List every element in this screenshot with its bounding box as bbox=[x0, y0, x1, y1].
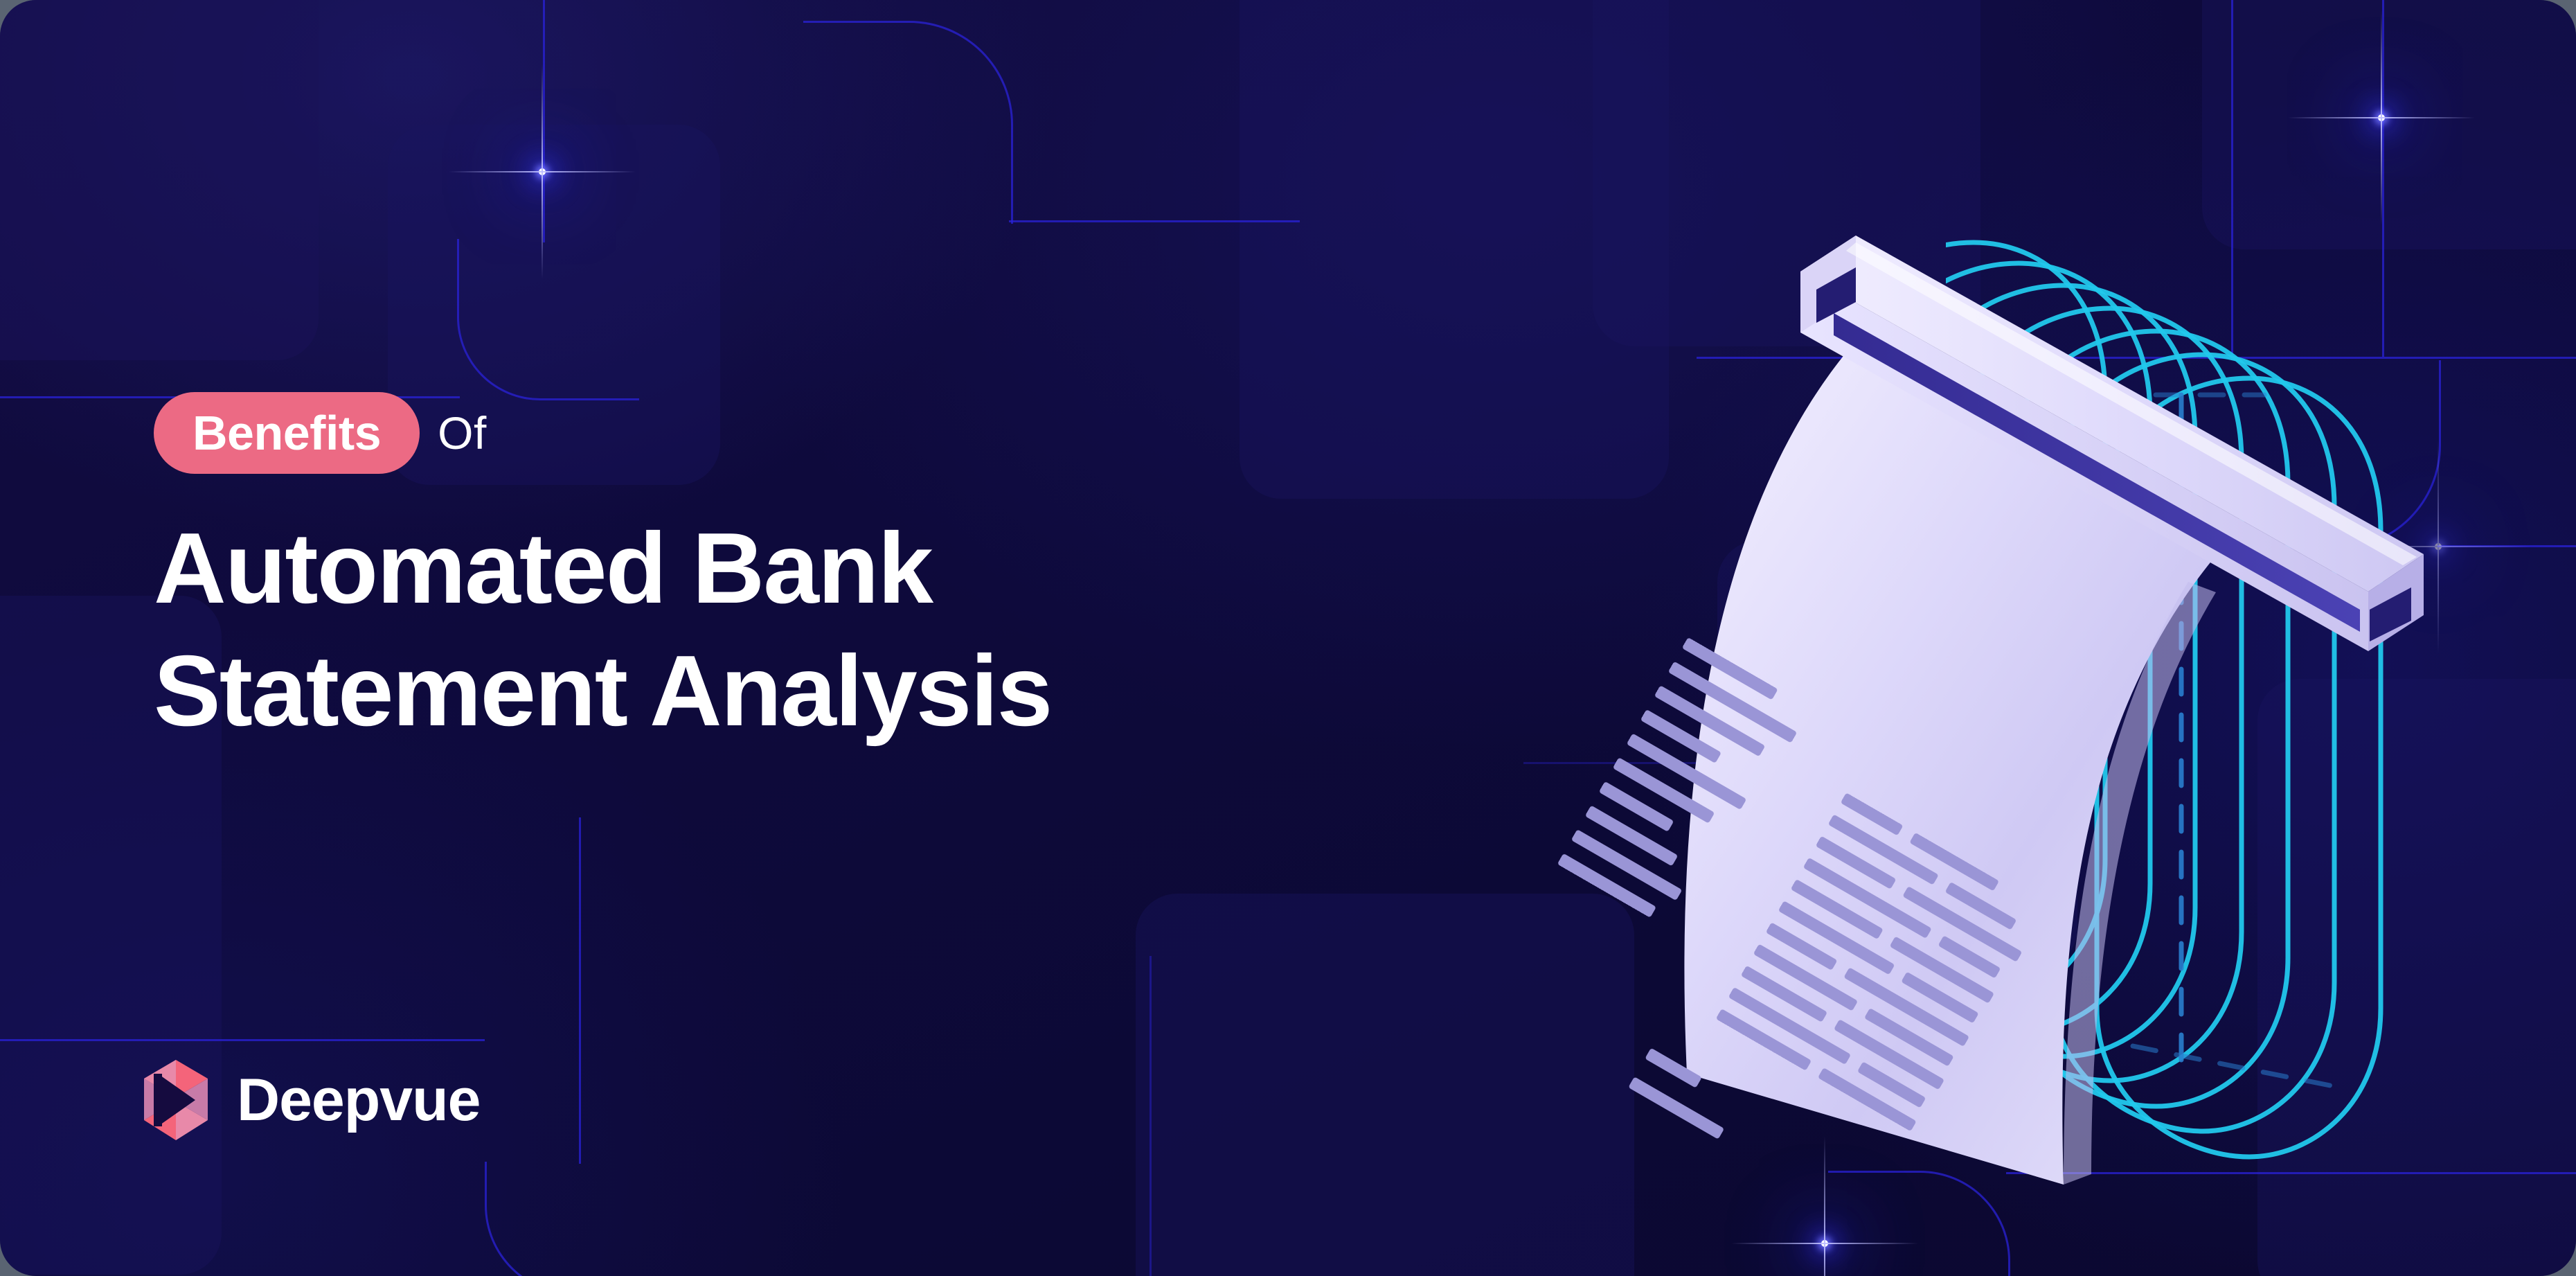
trace-vertical-1 bbox=[543, 0, 545, 242]
eyebrow-connector: Of bbox=[438, 407, 487, 459]
star-node-top-left bbox=[539, 168, 546, 175]
brand-name: Deepvue bbox=[237, 1070, 481, 1130]
trace-corner-3 bbox=[803, 21, 1013, 224]
bg-block-6 bbox=[1136, 894, 1634, 1276]
trace-vertical-4 bbox=[579, 817, 581, 1164]
page-title: Automated Bank Statement Analysis bbox=[154, 507, 1469, 752]
star-node-top-right bbox=[2378, 114, 2385, 121]
trace-corner-1 bbox=[457, 239, 639, 400]
eyebrow-row: Benefits Of bbox=[154, 388, 1608, 478]
trace-horizontal-5 bbox=[0, 1039, 485, 1041]
headline-line-1: Automated Bank bbox=[154, 507, 1469, 630]
hero-card: Benefits Of Automated Bank Statement Ana… bbox=[0, 0, 2576, 1276]
trace-corner-4 bbox=[485, 1162, 667, 1276]
benefits-badge: Benefits bbox=[154, 392, 420, 474]
trace-horizontal-4 bbox=[1009, 220, 1300, 222]
hero-illustration bbox=[1648, 166, 2534, 1247]
hero-text-block: Benefits Of Automated Bank Statement Ana… bbox=[154, 388, 1608, 752]
trace-vertical-5 bbox=[1150, 956, 1152, 1276]
bg-block-1 bbox=[0, 0, 319, 360]
headline-line-2: Statement Analysis bbox=[154, 630, 1469, 752]
deepvue-hexagon-icon bbox=[138, 1058, 213, 1142]
brand-logo[interactable]: Deepvue bbox=[138, 1058, 481, 1142]
